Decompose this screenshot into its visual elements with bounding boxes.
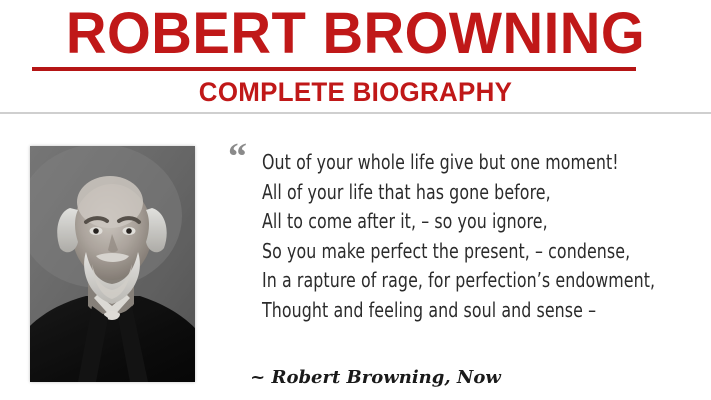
quote-line: All to come after it, – so you ignore,	[262, 207, 650, 237]
biography-slide: ROBERT BROWNING COMPLETE BIOGRAPHY	[0, 0, 711, 400]
quote-lines: Out of your whole life give but one mome…	[262, 148, 703, 325]
header: ROBERT BROWNING COMPLETE BIOGRAPHY	[0, 0, 711, 113]
quote-line: Out of your whole life give but one mome…	[262, 148, 650, 178]
quote-line: All of your life that has gone before,	[262, 178, 650, 208]
page-title: ROBERT BROWNING	[11, 2, 701, 66]
quote-line: Thought and feeling and soul and sense –	[262, 296, 650, 326]
title-underline-rule	[32, 67, 636, 71]
portrait-photo-icon	[30, 146, 195, 382]
page-subtitle: COMPLETE BIOGRAPHY	[14, 76, 697, 108]
quote-line: In a rapture of rage, for perfection’s e…	[262, 266, 650, 296]
quote-attribution: ~ Robert Browning, Now	[0, 366, 711, 390]
quote-line: So you make perfect the present, – conde…	[262, 237, 650, 267]
portrait-photo	[30, 146, 195, 382]
header-divider	[0, 112, 711, 114]
open-quote-icon: “	[228, 142, 247, 172]
